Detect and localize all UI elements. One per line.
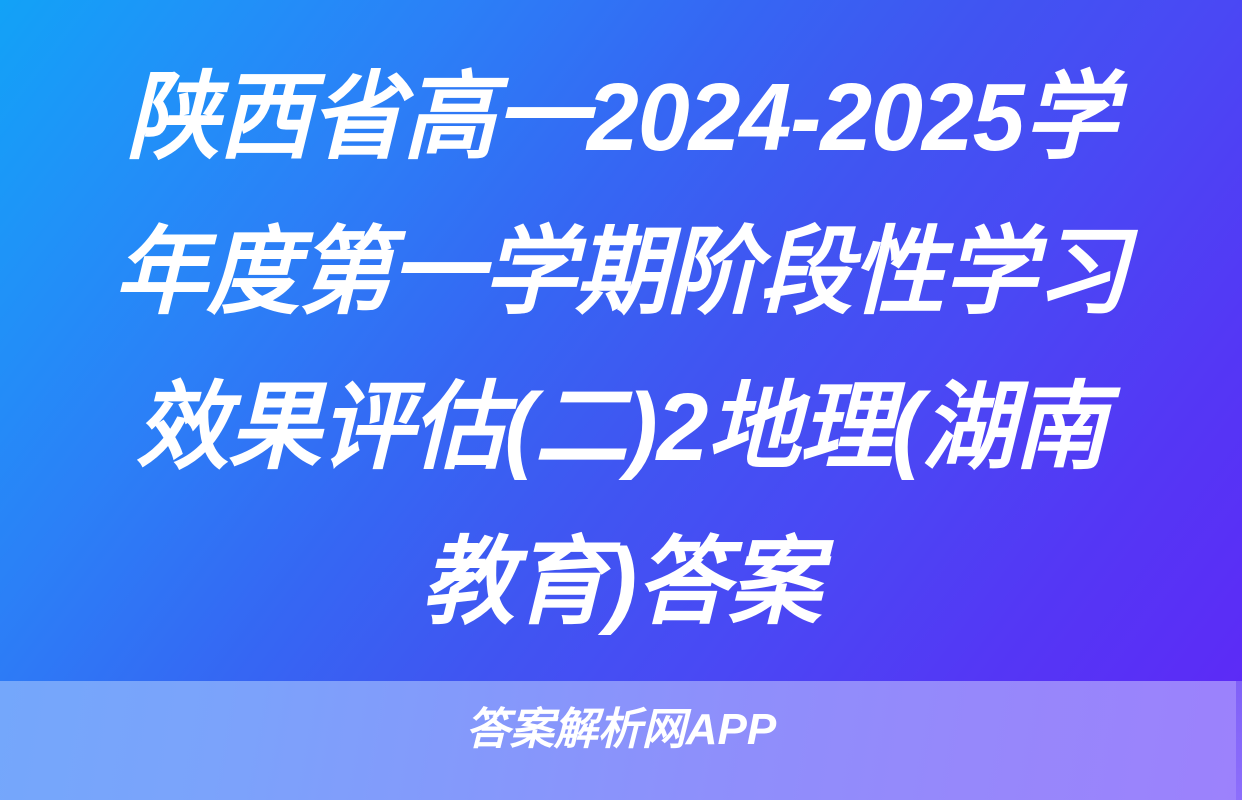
poster-root: 陕西省高一2024-2025学年度第一学期阶段性学习效果评估(二)2地理(湖南教…	[0, 0, 1242, 800]
page-title: 陕西省高一2024-2025学年度第一学期阶段性学习效果评估(二)2地理(湖南教…	[92, 40, 1149, 660]
headline-container: 陕西省高一2024-2025学年度第一学期阶段性学习效果评估(二)2地理(湖南教…	[0, 0, 1242, 681]
app-watermark: 答案解析网APP	[0, 702, 1242, 758]
